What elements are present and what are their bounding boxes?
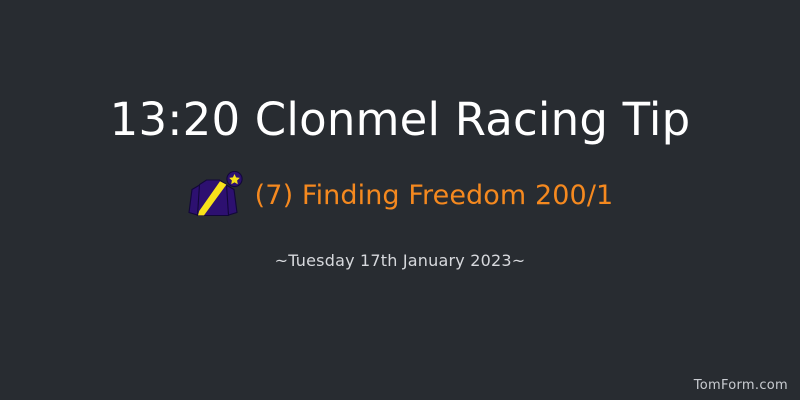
jockey-silk-icon <box>187 171 243 219</box>
racing-tip-card: 13:20 Clonmel Racing Tip (7) Finding Fre… <box>0 0 800 400</box>
meeting-date: ~Tuesday 17th January 2023~ <box>275 251 526 270</box>
site-watermark: TomForm.com <box>694 378 788 393</box>
tip-selection-text: (7) Finding Freedom 200/1 <box>255 180 614 211</box>
page-title: 13:20 Clonmel Racing Tip <box>110 96 691 143</box>
tip-row: (7) Finding Freedom 200/1 <box>187 171 614 219</box>
